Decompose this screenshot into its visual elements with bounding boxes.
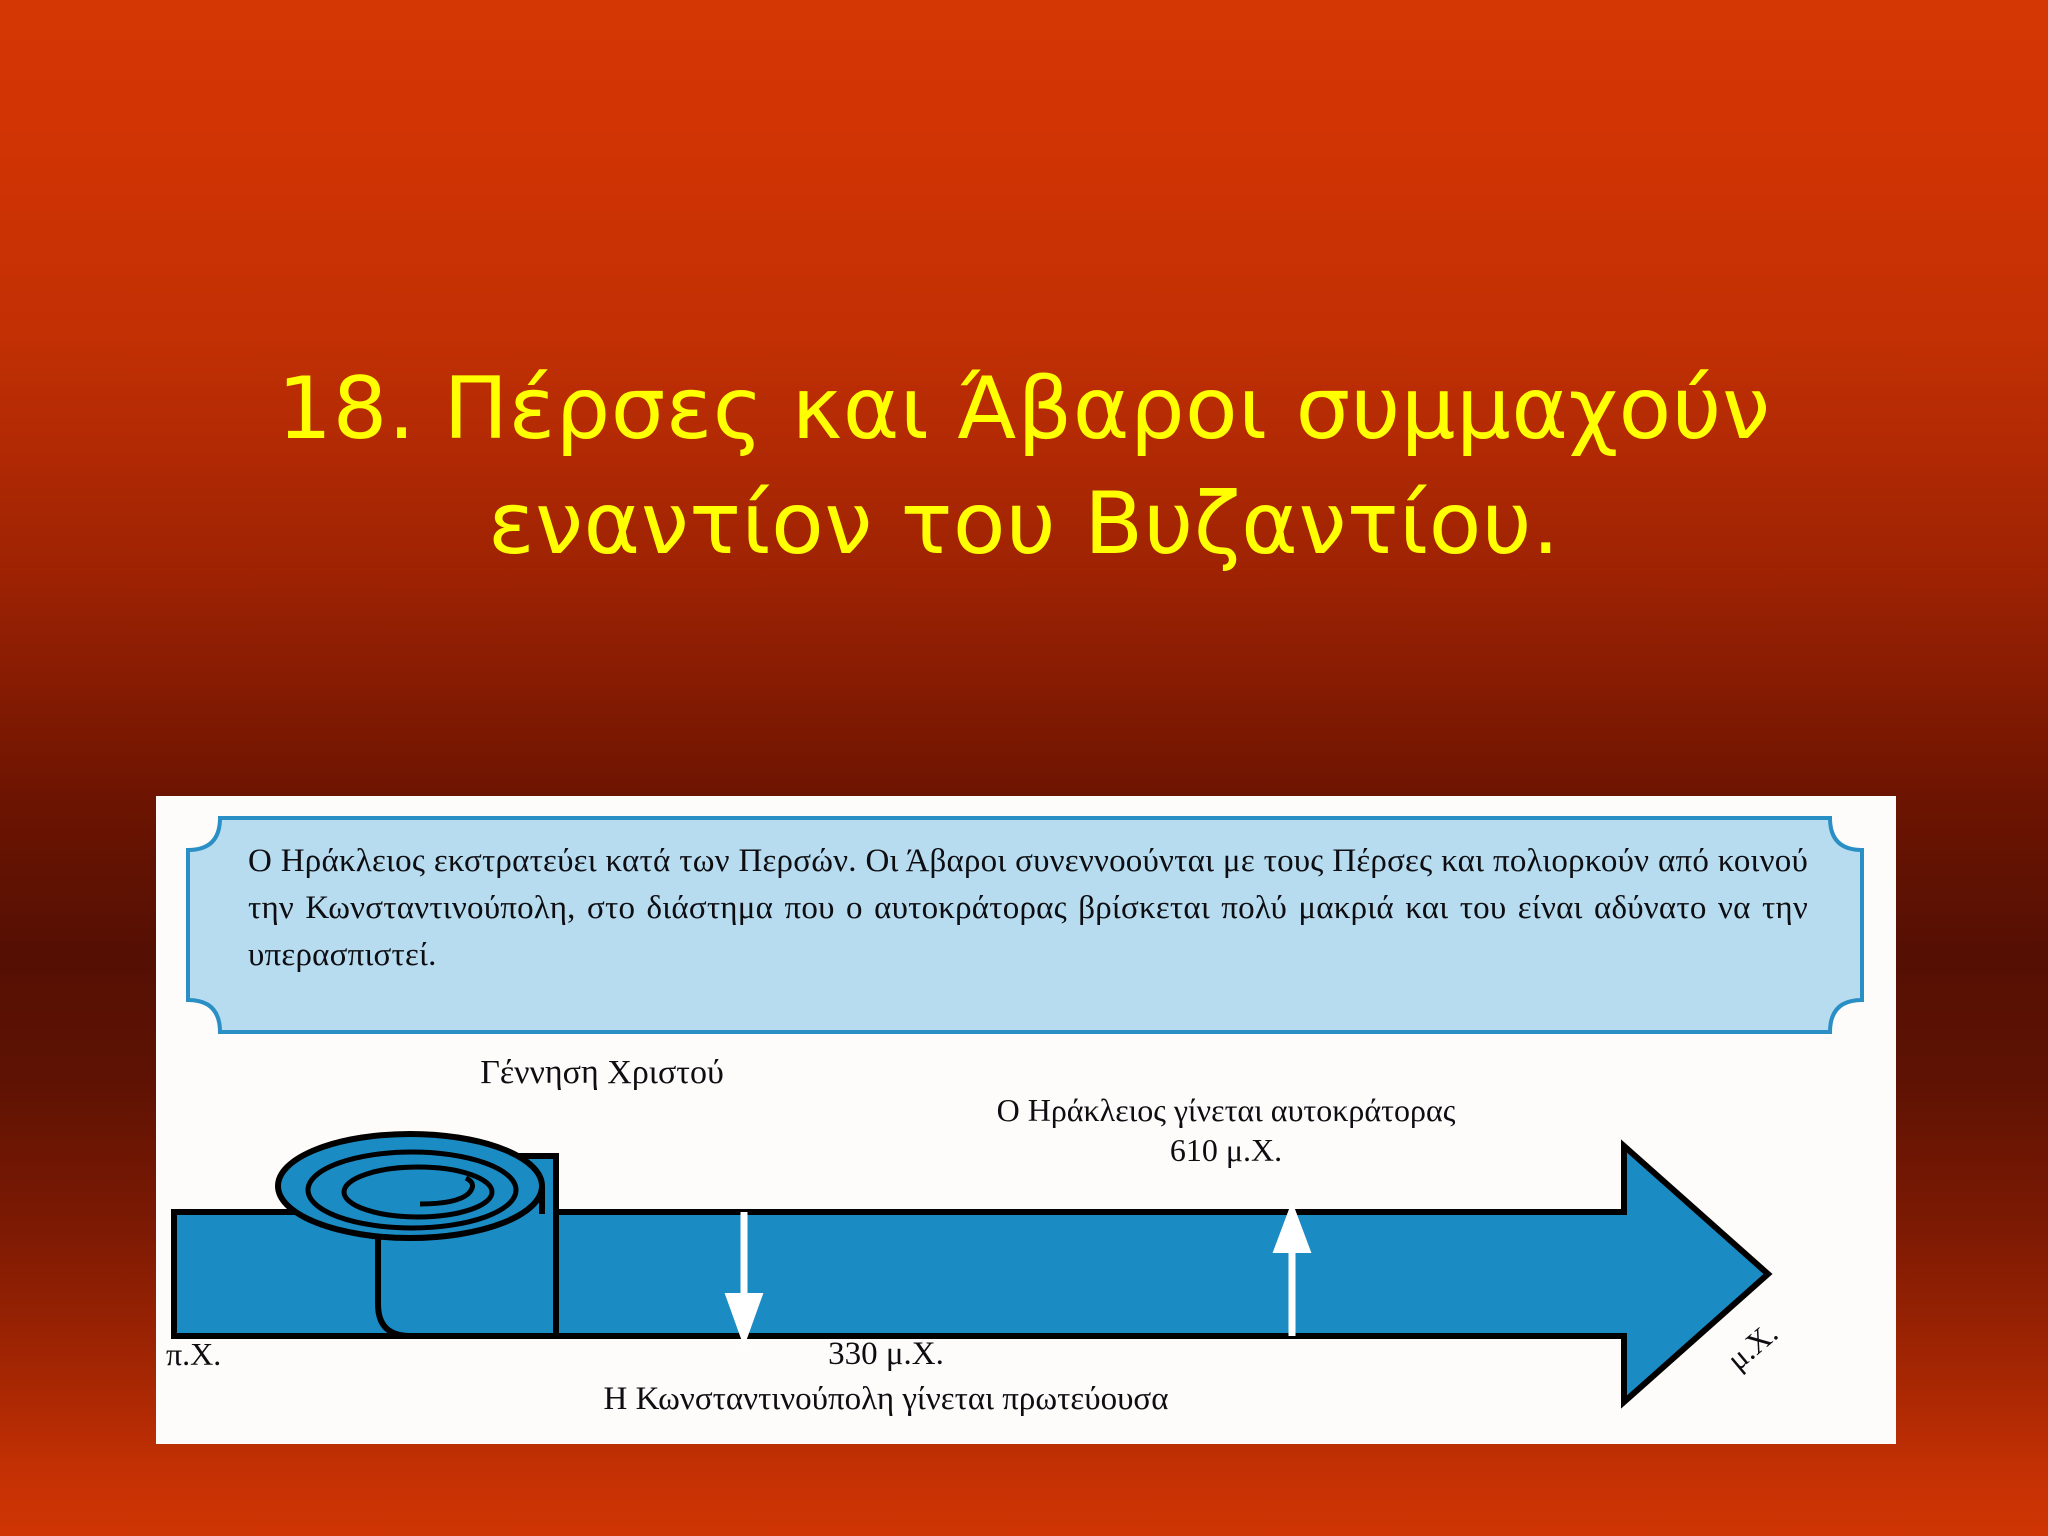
timeline-diagram: Γέννηση Χριστού Ο Ηράκλειος γίνεται αυτο… [156,1054,1896,1444]
timeline-label-constantinople-330: 330 μ.Χ. Η Κωνσταντινούπολη γίνεται πρωτ… [486,1332,1286,1421]
timeline-image-panel: Ο Ηράκλειος εκστρατεύει κατά των Περσών.… [156,796,1896,1444]
timeline-label-birth-of-christ: Γέννηση Χριστού [372,1054,832,1092]
info-callout-box: Ο Ηράκλειος εκστρατεύει κατά των Περσών.… [186,816,1864,1034]
info-box-text: Ο Ηράκλειος εκστρατεύει κατά των Περσών.… [248,838,1808,979]
timeline-label-bc: π.Χ. [166,1336,221,1373]
timeline-label-heraclius-610: Ο Ηράκλειος γίνεται αυτοκράτορας 610 μ.Χ… [776,1090,1676,1170]
slide-canvas: 18. Πέρσες και Άβαροι συμμαχούν εναντίον… [0,0,2048,1536]
page-title: 18. Πέρσες και Άβαροι συμμαχούν εναντίον… [90,352,1958,582]
